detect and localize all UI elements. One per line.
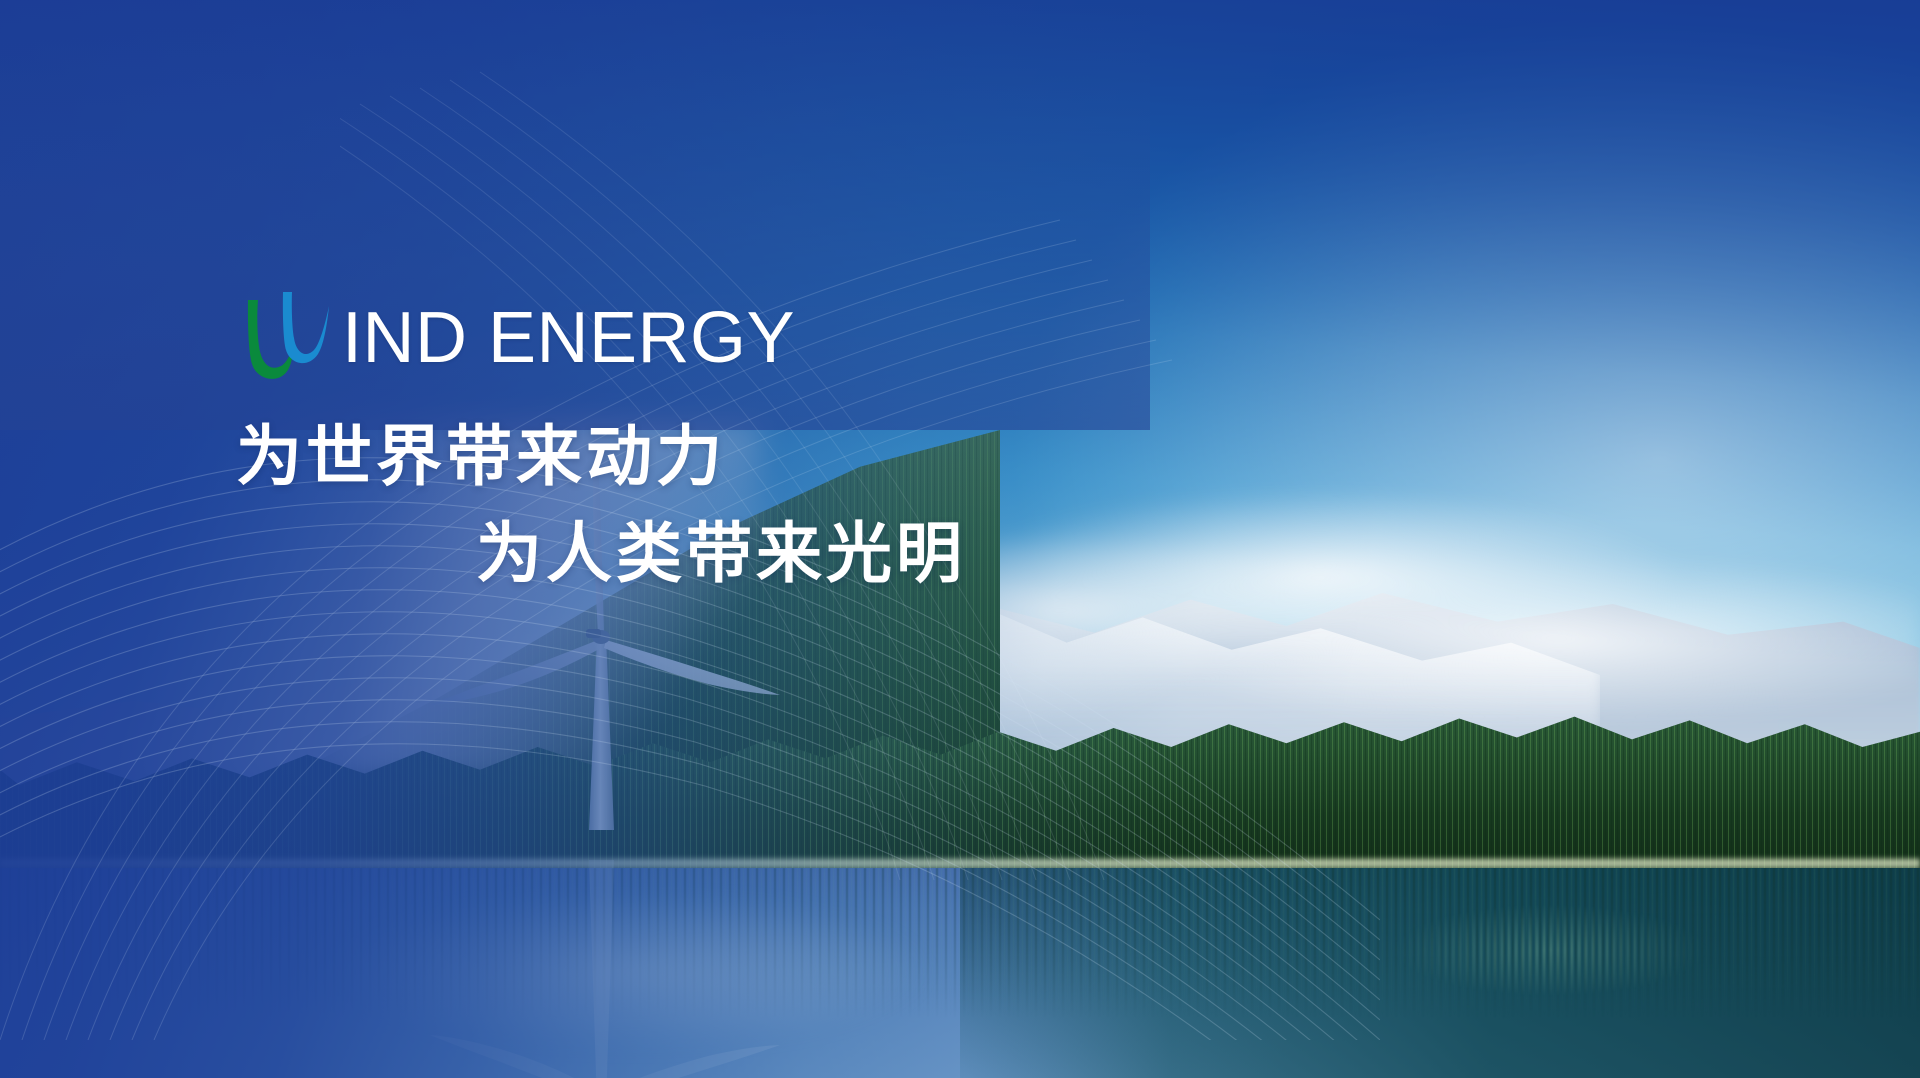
brand-name: IND ENERGY (342, 302, 795, 374)
hero-content: IND ENERGY 为世界带来动力 为人类带来光明 (236, 286, 1436, 591)
slogan-line-1: 为世界带来动力 (236, 418, 1436, 495)
slogan-line-2: 为人类带来光明 (476, 515, 1436, 592)
hero-banner: IND ENERGY 为世界带来动力 为人类带来光明 (0, 0, 1920, 1078)
brand-lockup: IND ENERGY (236, 286, 1436, 390)
wind-w-logo-icon (236, 286, 340, 390)
